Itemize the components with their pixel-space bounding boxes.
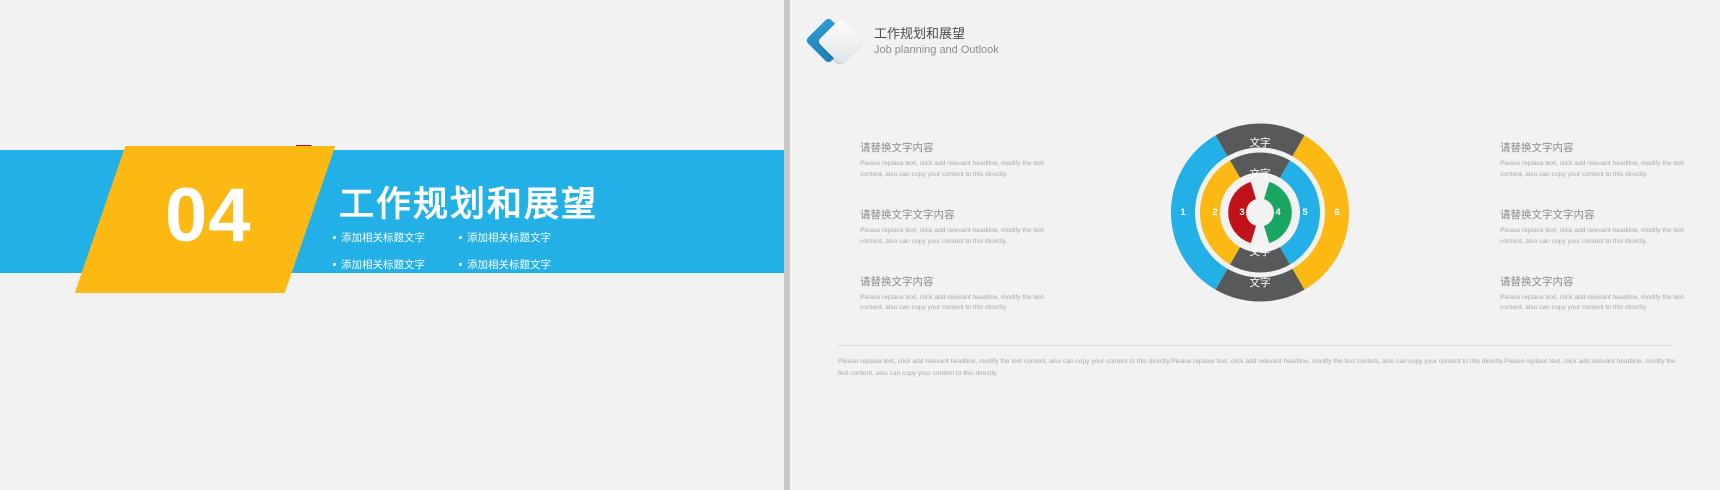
- segment-number-5: 5: [1295, 207, 1315, 218]
- list-item-label: 添加相关标题文字: [467, 230, 551, 245]
- text-block: 请替换文字内容 Please replace text, click add r…: [860, 140, 1050, 181]
- header-text: 工作规划和展望 Job planning and Outlook: [874, 25, 999, 60]
- ring-label-top-outer: 文字: [1240, 135, 1280, 150]
- text-block-heading: 请替换文字内容: [1500, 274, 1690, 289]
- text-block: 请替换文字文字内容 Please replace text, click add…: [1500, 207, 1690, 248]
- content-slide: 工作规划和展望 Job planning and Outlook 请替换文字内容…: [790, 0, 1720, 490]
- list-item: 添加相关标题文字: [459, 257, 585, 272]
- diamond-logo-icon: [810, 14, 866, 70]
- bullet-dot-icon: [459, 236, 462, 239]
- text-block-body: Please replace text, click add relevant …: [1500, 226, 1690, 248]
- text-block: 请替换文字内容 Please replace text, click add r…: [860, 274, 1050, 315]
- slide-deck: 04 工作规划和展望 添加相关标题文字 添加相关标题文字 添加相关标题文字 添加…: [0, 0, 1720, 490]
- text-block: 请替换文字文字内容 Please replace text, click add…: [860, 207, 1050, 248]
- ring-label-top-inner: 文字: [1240, 166, 1280, 181]
- list-item: 添加相关标题文字: [333, 230, 459, 245]
- segment-number-3: 3: [1232, 207, 1252, 218]
- bullet-dot-icon: [333, 263, 336, 266]
- text-column-right: 请替换文字内容 Please replace text, click add r…: [1500, 140, 1690, 340]
- segment-number-2: 2: [1205, 207, 1225, 218]
- text-block-heading: 请替换文字内容: [860, 274, 1050, 289]
- text-block: 请替换文字内容 Please replace text, click add r…: [1500, 274, 1690, 315]
- ring-label-bottom-outer: 文字: [1240, 275, 1280, 290]
- text-block-heading: 请替换文字文字内容: [1500, 207, 1690, 222]
- concentric-ring-diagram: 文字 文字 文字 文字 1 2 3 4 5 6: [1115, 110, 1405, 315]
- list-item: 添加相关标题文字: [333, 257, 459, 272]
- text-block: 请替换文字内容 Please replace text, click add r…: [1500, 140, 1690, 181]
- text-block-body: Please replace text, click add relevant …: [860, 159, 1050, 181]
- text-block-body: Please replace text, click add relevant …: [860, 293, 1050, 315]
- text-column-left: 请替换文字内容 Please replace text, click add r…: [860, 140, 1050, 340]
- bullet-dot-icon: [333, 236, 336, 239]
- section-title: 工作规划和展望: [339, 186, 598, 225]
- footer-paragraph: Please replace text, click add relevant …: [838, 356, 1683, 380]
- header-title-cn: 工作规划和展望: [874, 25, 999, 44]
- bullet-dot-icon: [459, 263, 462, 266]
- text-block-body: Please replace text, click add relevant …: [1500, 293, 1690, 315]
- list-item-label: 添加相关标题文字: [341, 257, 425, 272]
- text-block-body: Please replace text, click add relevant …: [1500, 159, 1690, 181]
- section-divider-slide: 04 工作规划和展望 添加相关标题文字 添加相关标题文字 添加相关标题文字 添加…: [0, 0, 784, 490]
- footer-divider: [838, 345, 1673, 346]
- section-number: 04: [165, 178, 252, 254]
- segment-number-1: 1: [1173, 207, 1193, 218]
- list-item-label: 添加相关标题文字: [467, 257, 551, 272]
- slide-header: 工作规划和展望 Job planning and Outlook: [810, 14, 999, 70]
- text-block-heading: 请替换文字文字内容: [860, 207, 1050, 222]
- text-block-body: Please replace text, click add relevant …: [860, 226, 1050, 248]
- segment-number-4: 4: [1268, 207, 1288, 218]
- bullet-list: 添加相关标题文字 添加相关标题文字 添加相关标题文字 添加相关标题文字: [333, 230, 633, 272]
- list-item: 添加相关标题文字: [459, 230, 585, 245]
- text-block-heading: 请替换文字内容: [1500, 140, 1690, 155]
- segment-number-6: 6: [1327, 207, 1347, 218]
- header-title-en: Job planning and Outlook: [874, 43, 999, 59]
- list-item-label: 添加相关标题文字: [341, 230, 425, 245]
- text-block-heading: 请替换文字内容: [860, 140, 1050, 155]
- ring-label-bottom-inner: 文字: [1240, 244, 1280, 259]
